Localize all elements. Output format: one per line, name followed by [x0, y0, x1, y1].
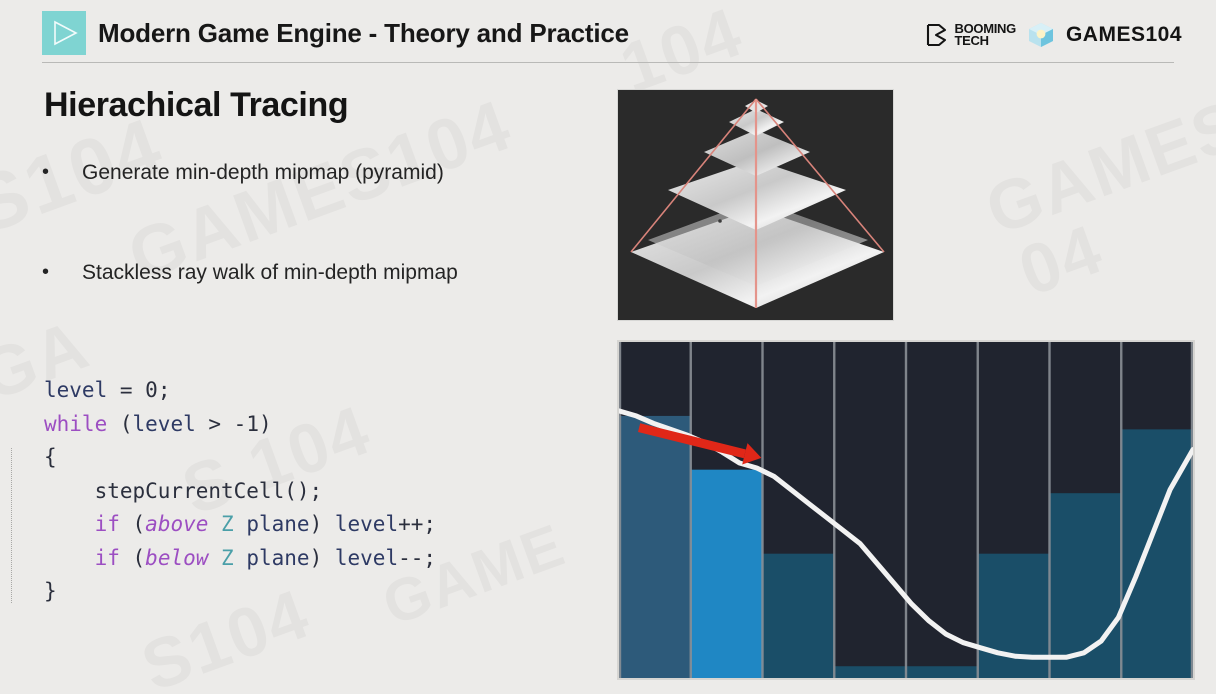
code-token: 0	[145, 378, 158, 402]
code-token: Z	[221, 546, 234, 570]
slide-header: Modern Game Engine - Theory and Practice…	[0, 0, 1216, 66]
code-line: {	[44, 441, 436, 475]
games104-wordmark: GAMES104	[1066, 23, 1182, 47]
code-token: =	[107, 378, 145, 402]
mipmap-pyramid-figure	[617, 89, 894, 321]
code-token	[234, 512, 247, 536]
code-token: {	[44, 445, 57, 469]
code-token: plane	[246, 546, 309, 570]
bar	[763, 554, 835, 678]
code-token: level	[335, 512, 398, 536]
code-token: (	[120, 512, 145, 536]
code-token: (	[120, 546, 145, 570]
code-token: (	[107, 412, 132, 436]
code-token	[208, 512, 221, 536]
code-token: plane	[246, 512, 309, 536]
bar	[834, 666, 906, 678]
code-token: )	[259, 412, 272, 436]
code-token: }	[44, 579, 57, 603]
code-token	[44, 546, 95, 570]
code-token: level	[133, 412, 196, 436]
code-indent-guide	[11, 448, 12, 603]
code-token	[44, 512, 95, 536]
code-snippet: level = 0;while (level > -1){ stepCurren…	[44, 374, 436, 609]
header-divider	[42, 62, 1174, 63]
code-token: )	[310, 546, 335, 570]
code-token	[208, 546, 221, 570]
play-triangle-icon	[42, 11, 86, 55]
booming-b-icon	[924, 22, 950, 48]
bar	[906, 666, 978, 678]
code-line: }	[44, 575, 436, 609]
code-token: Z	[221, 512, 234, 536]
code-token: if	[95, 512, 120, 536]
games104-cube-icon	[1027, 21, 1055, 49]
watermark-text: GAMES1	[976, 70, 1216, 250]
booming-line-2: TECH	[955, 35, 1016, 47]
bullet-text: Generate min-depth mipmap (pyramid)	[82, 160, 444, 186]
code-token: above	[145, 512, 208, 536]
code-token: while	[44, 412, 107, 436]
code-token: ;	[158, 378, 171, 402]
code-token: ++;	[398, 512, 436, 536]
bullet-text: Stackless ray walk of min-depth mipmap	[82, 260, 458, 286]
bullet-marker-icon: •	[42, 260, 82, 285]
code-token: below	[145, 546, 208, 570]
code-token: if	[95, 546, 120, 570]
watermark-text: 04	[1009, 208, 1113, 311]
booming-tech-wordmark: BOOMING TECH	[955, 23, 1016, 48]
deck-title: Modern Game Engine - Theory and Practice	[98, 18, 629, 49]
code-token: )	[310, 512, 335, 536]
bullet-list: • Generate min-depth mipmap (pyramid) • …	[42, 160, 602, 361]
bar	[691, 470, 763, 678]
code-token: level	[44, 378, 107, 402]
code-token: stepCurrentCell();	[44, 479, 322, 503]
code-line: if (above Z plane) level++;	[44, 508, 436, 542]
brand-logos: BOOMING TECH GAMES104	[924, 18, 1183, 52]
code-line: level = 0;	[44, 374, 436, 408]
min-depth-bar-chart	[617, 340, 1195, 680]
code-line: while (level > -1)	[44, 408, 436, 442]
booming-tech-logo: BOOMING TECH	[924, 22, 1016, 48]
code-line: stepCurrentCell();	[44, 475, 436, 509]
bullet-marker-icon: •	[42, 160, 82, 185]
code-token: --;	[398, 546, 436, 570]
list-item: • Generate min-depth mipmap (pyramid)	[42, 160, 602, 186]
code-token	[234, 546, 247, 570]
code-line: if (below Z plane) level--;	[44, 542, 436, 576]
code-token: -1	[234, 412, 259, 436]
code-token: >	[196, 412, 234, 436]
code-token: level	[335, 546, 398, 570]
page-title: Hierachical Tracing	[44, 86, 348, 125]
bar	[619, 416, 691, 678]
list-item: • Stackless ray walk of min-depth mipmap	[42, 260, 602, 286]
